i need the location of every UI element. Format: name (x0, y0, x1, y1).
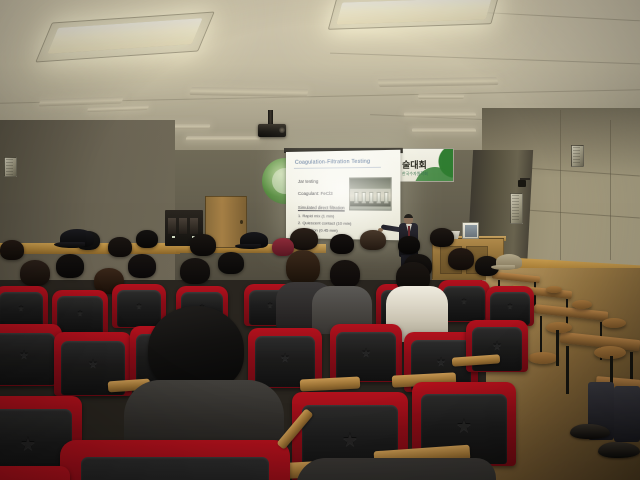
slide-title: Coagulation-Filtration Testing (295, 159, 370, 166)
banner-title: 술대회 (402, 158, 427, 171)
banner-subtitle: 한국수자원학회 (402, 171, 428, 177)
slide-line-2: Coagulant: FeCl3 (298, 191, 333, 196)
audience-head (218, 252, 244, 274)
speaker-grille (573, 147, 580, 165)
ceiling-fixture (185, 136, 260, 141)
aisle-stool (546, 322, 572, 333)
audience-head (56, 254, 84, 278)
door-knob[interactable] (240, 220, 243, 224)
projector-lens (279, 127, 285, 133)
tile-seam (610, 120, 611, 260)
photo-background (350, 178, 392, 189)
nearest-seat[interactable]: ★ (60, 440, 290, 480)
slide-title-rule (294, 167, 381, 169)
audience-head (108, 237, 132, 257)
stool-leg (556, 330, 559, 366)
standing-person-shoe (570, 424, 610, 439)
audience-cap (240, 232, 268, 248)
audience-head (290, 228, 318, 250)
ceiling-fixture (412, 128, 477, 133)
audience-cap (60, 229, 94, 247)
audience-head (286, 250, 320, 284)
star-emboss-icon: ★ (77, 310, 83, 317)
audience-head (398, 236, 420, 254)
speaker-grille (512, 195, 519, 222)
presenter-head (404, 214, 413, 224)
slide-photo (349, 177, 392, 211)
standing-person-shoe (598, 442, 640, 458)
jar-beaker (362, 192, 366, 203)
jar-beaker (354, 192, 358, 203)
audience-head (330, 234, 354, 254)
nearest-seat-left[interactable]: ★ (0, 466, 70, 480)
conference-banner: 술대회 한국수자원학회 (398, 148, 454, 182)
aisle-stool (546, 286, 562, 293)
slide-bullet: 2. Quiescent contact (10 min) (298, 220, 351, 226)
star-emboss-icon: ★ (456, 417, 472, 435)
audience-head (190, 234, 216, 256)
wall-speaker-front-right (510, 193, 523, 224)
foreground-person-right (296, 458, 496, 480)
jar-beaker (369, 192, 373, 203)
star-emboss-icon: ★ (136, 303, 142, 310)
star-emboss-icon: ★ (267, 302, 273, 309)
speaker-grille (6, 159, 13, 175)
ceiling-fixture (404, 112, 477, 117)
audience-head (330, 260, 360, 288)
star-emboss-icon: ★ (19, 351, 29, 362)
star-emboss-icon: ★ (361, 349, 371, 360)
audience-head (0, 240, 24, 260)
wall-speaker-right (571, 145, 584, 167)
aisle-stool (602, 318, 626, 328)
star-emboss-icon: ★ (280, 354, 290, 365)
audience-head (128, 254, 156, 278)
star-emboss-icon: ★ (492, 342, 502, 353)
star-emboss-icon: ★ (88, 360, 98, 371)
audience-head (360, 230, 386, 250)
wall-camera-icon (518, 180, 526, 187)
tile-seam (560, 110, 561, 260)
table-leg (566, 346, 569, 394)
table-leg (540, 316, 542, 354)
audience-head (20, 260, 50, 286)
audience-cap (496, 254, 522, 269)
lecture-hall-photograph: 술대회 한국수자원학회 Coagulation-Filtration Testi… (0, 0, 640, 480)
star-emboss-icon: ★ (342, 431, 358, 449)
audience-seating-area: ★ ★ ★ ★ ★ ★ ★ ★ ★ ★ ★ ★ ★ ★ ★ (0, 228, 520, 480)
jar-beaker (384, 192, 388, 204)
star-emboss-icon: ★ (461, 298, 467, 305)
audience-seat[interactable]: ★ (0, 324, 62, 386)
audience-seat[interactable]: ★ (330, 324, 402, 382)
star-emboss-icon: ★ (18, 305, 24, 312)
star-emboss-icon: ★ (507, 303, 513, 310)
aisle-stool (572, 300, 592, 309)
slide-line-3: Simulated direct filtration (298, 205, 345, 210)
slide-line-1: Jar testing (298, 179, 318, 184)
aisle-stool (528, 352, 558, 364)
star-emboss-icon: ★ (436, 358, 446, 369)
audience-head (180, 258, 210, 284)
seat-armrest (300, 376, 361, 391)
audience-head (448, 248, 474, 270)
audience-head (430, 228, 454, 247)
slide-bullet: 1. Rapid mix (1 min) (298, 213, 334, 218)
star-emboss-icon: ★ (20, 435, 36, 453)
wall-speaker-left (4, 157, 17, 177)
standing-person-leg (614, 386, 640, 442)
ceiling-fixture (418, 94, 464, 99)
jar-beaker (377, 192, 381, 203)
audience-head (136, 230, 158, 248)
